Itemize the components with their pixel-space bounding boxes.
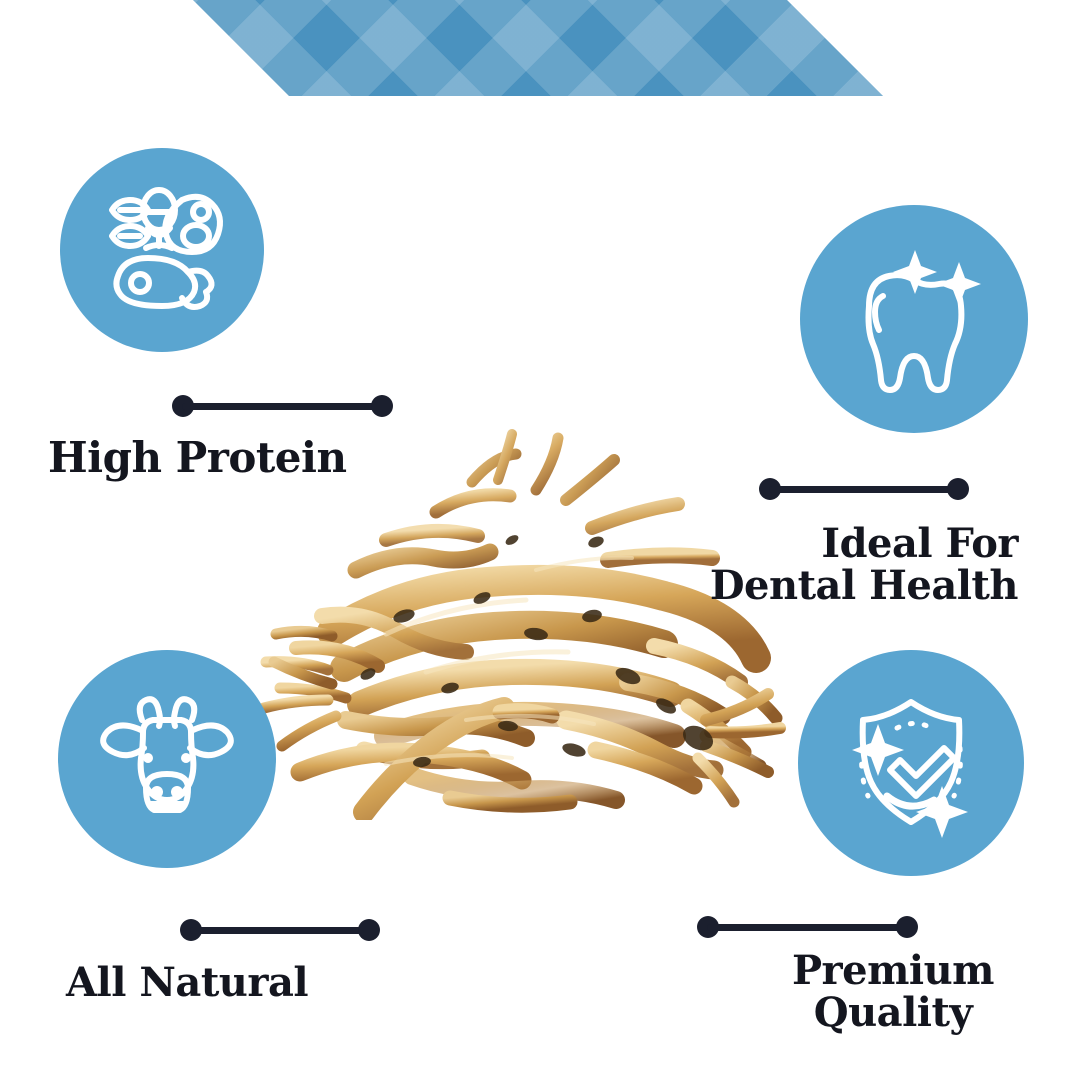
connector-dot-right	[358, 919, 380, 941]
badge-all-natural	[58, 650, 276, 868]
badge-high-protein	[60, 148, 264, 352]
connector-high-protein	[172, 395, 393, 417]
badge-premium-quality	[798, 650, 1024, 876]
feature-label-all-natural: All Natural	[66, 962, 308, 1004]
connector-bar	[707, 924, 908, 931]
connector-bar	[190, 927, 370, 934]
feature-label-dental-health: Ideal For Dental Health	[710, 523, 1018, 608]
connector-dental-health	[759, 478, 969, 500]
badge-dental-health	[800, 205, 1028, 433]
connector-all-natural	[180, 919, 380, 941]
cow-head-icon	[96, 688, 238, 830]
tooth-sparkle-icon	[839, 244, 989, 394]
infographic-canvas: High Protein Ideal For Dental Health All…	[0, 0, 1080, 1080]
connector-dot-right	[371, 395, 393, 417]
shield-check-sparkle-icon	[836, 688, 986, 838]
connector-premium-quality	[697, 916, 918, 938]
connector-bar	[182, 403, 383, 410]
connector-bar	[769, 486, 959, 493]
gingham-pattern	[0, 0, 1080, 96]
feature-label-high-protein: High Protein	[48, 436, 347, 481]
meat-protein-icon	[96, 184, 228, 316]
header-gingham-band	[0, 0, 1080, 96]
feature-label-premium-quality: Premium Quality	[792, 950, 994, 1035]
connector-dot-right	[896, 916, 918, 938]
connector-dot-right	[947, 478, 969, 500]
